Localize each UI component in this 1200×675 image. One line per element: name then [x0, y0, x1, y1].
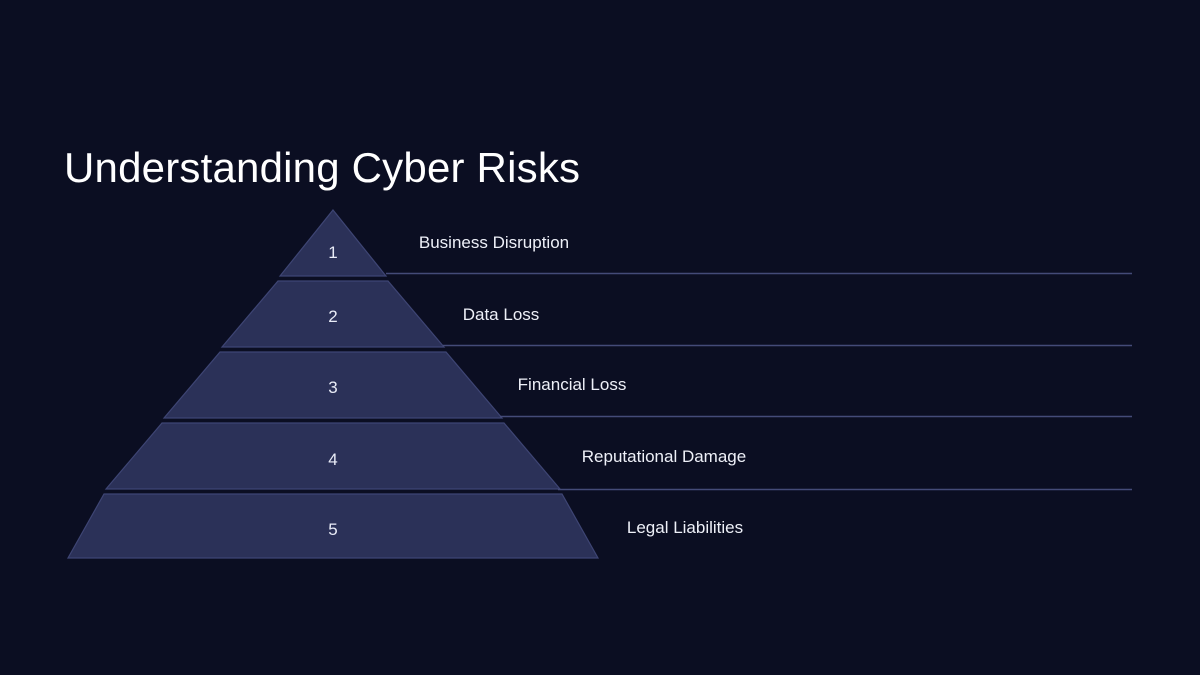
pyramid-tier-2-label[interactable]: Data Loss [463, 305, 540, 325]
pyramid-tier-4-shape[interactable] [106, 423, 560, 489]
pyramid-tier-2-shape[interactable] [222, 281, 444, 347]
pyramid-tier-5-label[interactable]: Legal Liabilities [627, 518, 743, 538]
pyramid-tier-3-shape[interactable] [164, 352, 502, 418]
pyramid-tier-4-label[interactable]: Reputational Damage [582, 447, 746, 467]
pyramid-tier-1-label[interactable]: Business Disruption [419, 233, 569, 253]
slide-canvas: Understanding Cyber Risks 1 2 3 4 5 Bu [0, 0, 1200, 675]
pyramid-tier-5-shape[interactable] [68, 494, 598, 558]
pyramid-shapes [0, 0, 1200, 675]
pyramid-tier-1-shape[interactable] [280, 210, 386, 276]
pyramid-tier-3-label[interactable]: Financial Loss [518, 375, 627, 395]
cyber-risk-pyramid[interactable]: 1 2 3 4 5 Business Disruption Data Loss … [0, 0, 1200, 675]
